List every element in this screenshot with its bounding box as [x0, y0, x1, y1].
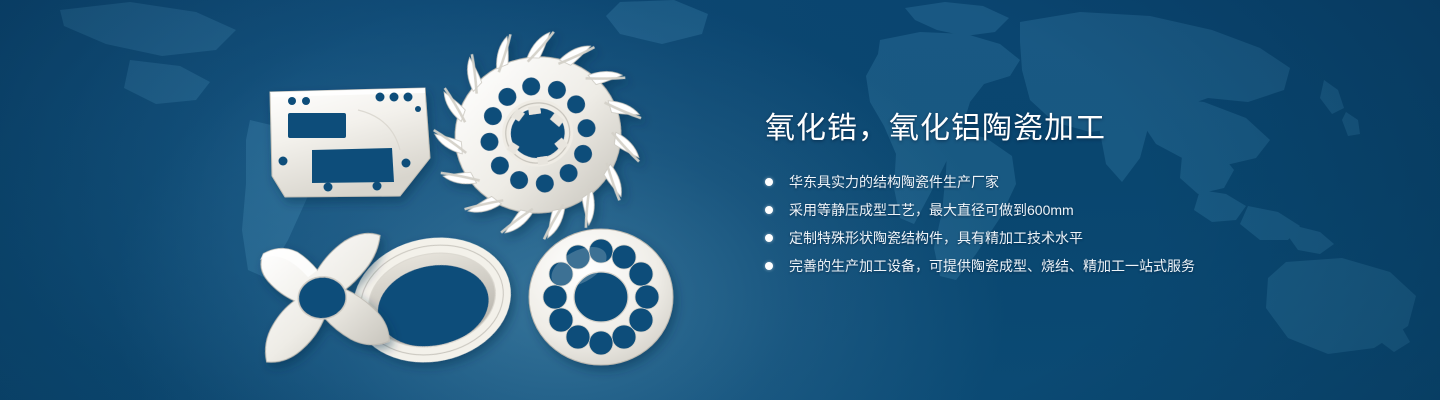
banner-copy: 氧化锆，氧化铝陶瓷加工 华东具实力的结构陶瓷件生产厂家 采用等静压成型工艺，最大… — [765, 110, 1405, 282]
bullet-dot-icon — [765, 234, 773, 242]
ceramic-impeller — [422, 18, 656, 252]
list-item: 完善的生产加工设备，可提供陶瓷成型、烧结、精加工一站式服务 — [765, 254, 1405, 278]
list-item: 华东具实力的结构陶瓷件生产厂家 — [765, 170, 1405, 194]
ceramic-perforated-disc — [529, 229, 673, 365]
feature-text: 完善的生产加工设备，可提供陶瓷成型、烧结、精加工一站式服务 — [789, 258, 1195, 274]
feature-text: 采用等静压成型工艺，最大直径可做到600mm — [789, 202, 1074, 218]
bullet-dot-icon — [765, 206, 773, 214]
hero-banner: 氧化锆，氧化铝陶瓷加工 华东具实力的结构陶瓷件生产厂家 采用等静压成型工艺，最大… — [0, 0, 1440, 400]
bullet-dot-icon — [765, 262, 773, 270]
page-title: 氧化锆，氧化铝陶瓷加工 — [765, 110, 1405, 148]
feature-text: 定制特殊形状陶瓷结构件，具有精加工技术水平 — [789, 230, 1083, 246]
list-item: 采用等静压成型工艺，最大直径可做到600mm — [765, 198, 1405, 222]
bullet-dot-icon — [765, 178, 773, 186]
list-item: 定制特殊形状陶瓷结构件，具有精加工技术水平 — [765, 226, 1405, 250]
feature-text: 华东具实力的结构陶瓷件生产厂家 — [789, 174, 999, 190]
ceramic-parts-image — [0, 0, 760, 400]
feature-list: 华东具实力的结构陶瓷件生产厂家 采用等静压成型工艺，最大直径可做到600mm 定… — [765, 170, 1405, 278]
ceramic-plate — [270, 88, 430, 197]
